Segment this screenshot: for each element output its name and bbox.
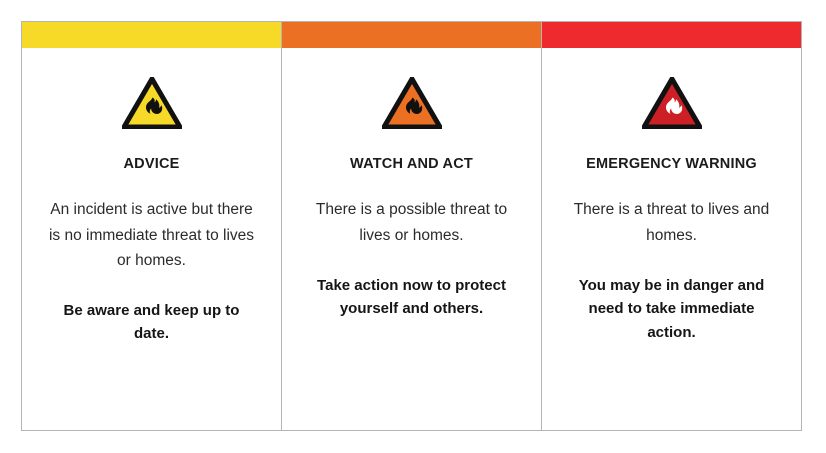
level-action-advice: Be aware and keep up to date. [44, 299, 259, 346]
fire-warning-triangle-icon [382, 76, 442, 130]
warning-level-card-advice: ADVICE An incident is active but there i… [22, 22, 281, 430]
level-title-advice: ADVICE [124, 156, 180, 173]
level-description-watch-and-act: There is a possible threat to lives or h… [304, 197, 519, 247]
level-title-watch-and-act: WATCH AND ACT [350, 156, 473, 173]
level-description-advice: An incident is active but there is no im… [44, 197, 259, 272]
level-title-emergency-warning: EMERGENCY WARNING [586, 156, 757, 173]
card-body-emergency-warning: EMERGENCY WARNING There is a threat to l… [542, 48, 801, 430]
level-action-watch-and-act: Take action now to protect yourself and … [304, 274, 519, 321]
fire-warning-triangle-icon [642, 76, 702, 130]
warning-level-card-emergency-warning: EMERGENCY WARNING There is a threat to l… [541, 22, 801, 430]
level-description-emergency-warning: There is a threat to lives and homes. [564, 197, 779, 247]
level-color-bar-emergency-warning [542, 22, 801, 48]
fire-warning-triangle-icon [122, 76, 182, 130]
level-action-emergency-warning: You may be in danger and need to take im… [564, 274, 779, 345]
warning-level-card-watch-and-act: WATCH AND ACT There is a possible threat… [281, 22, 541, 430]
warning-levels-legend: ADVICE An incident is active but there i… [21, 21, 802, 431]
card-body-advice: ADVICE An incident is active but there i… [22, 48, 281, 430]
level-color-bar-advice [22, 22, 281, 48]
card-body-watch-and-act: WATCH AND ACT There is a possible threat… [282, 48, 541, 430]
level-color-bar-watch-and-act [282, 22, 541, 48]
